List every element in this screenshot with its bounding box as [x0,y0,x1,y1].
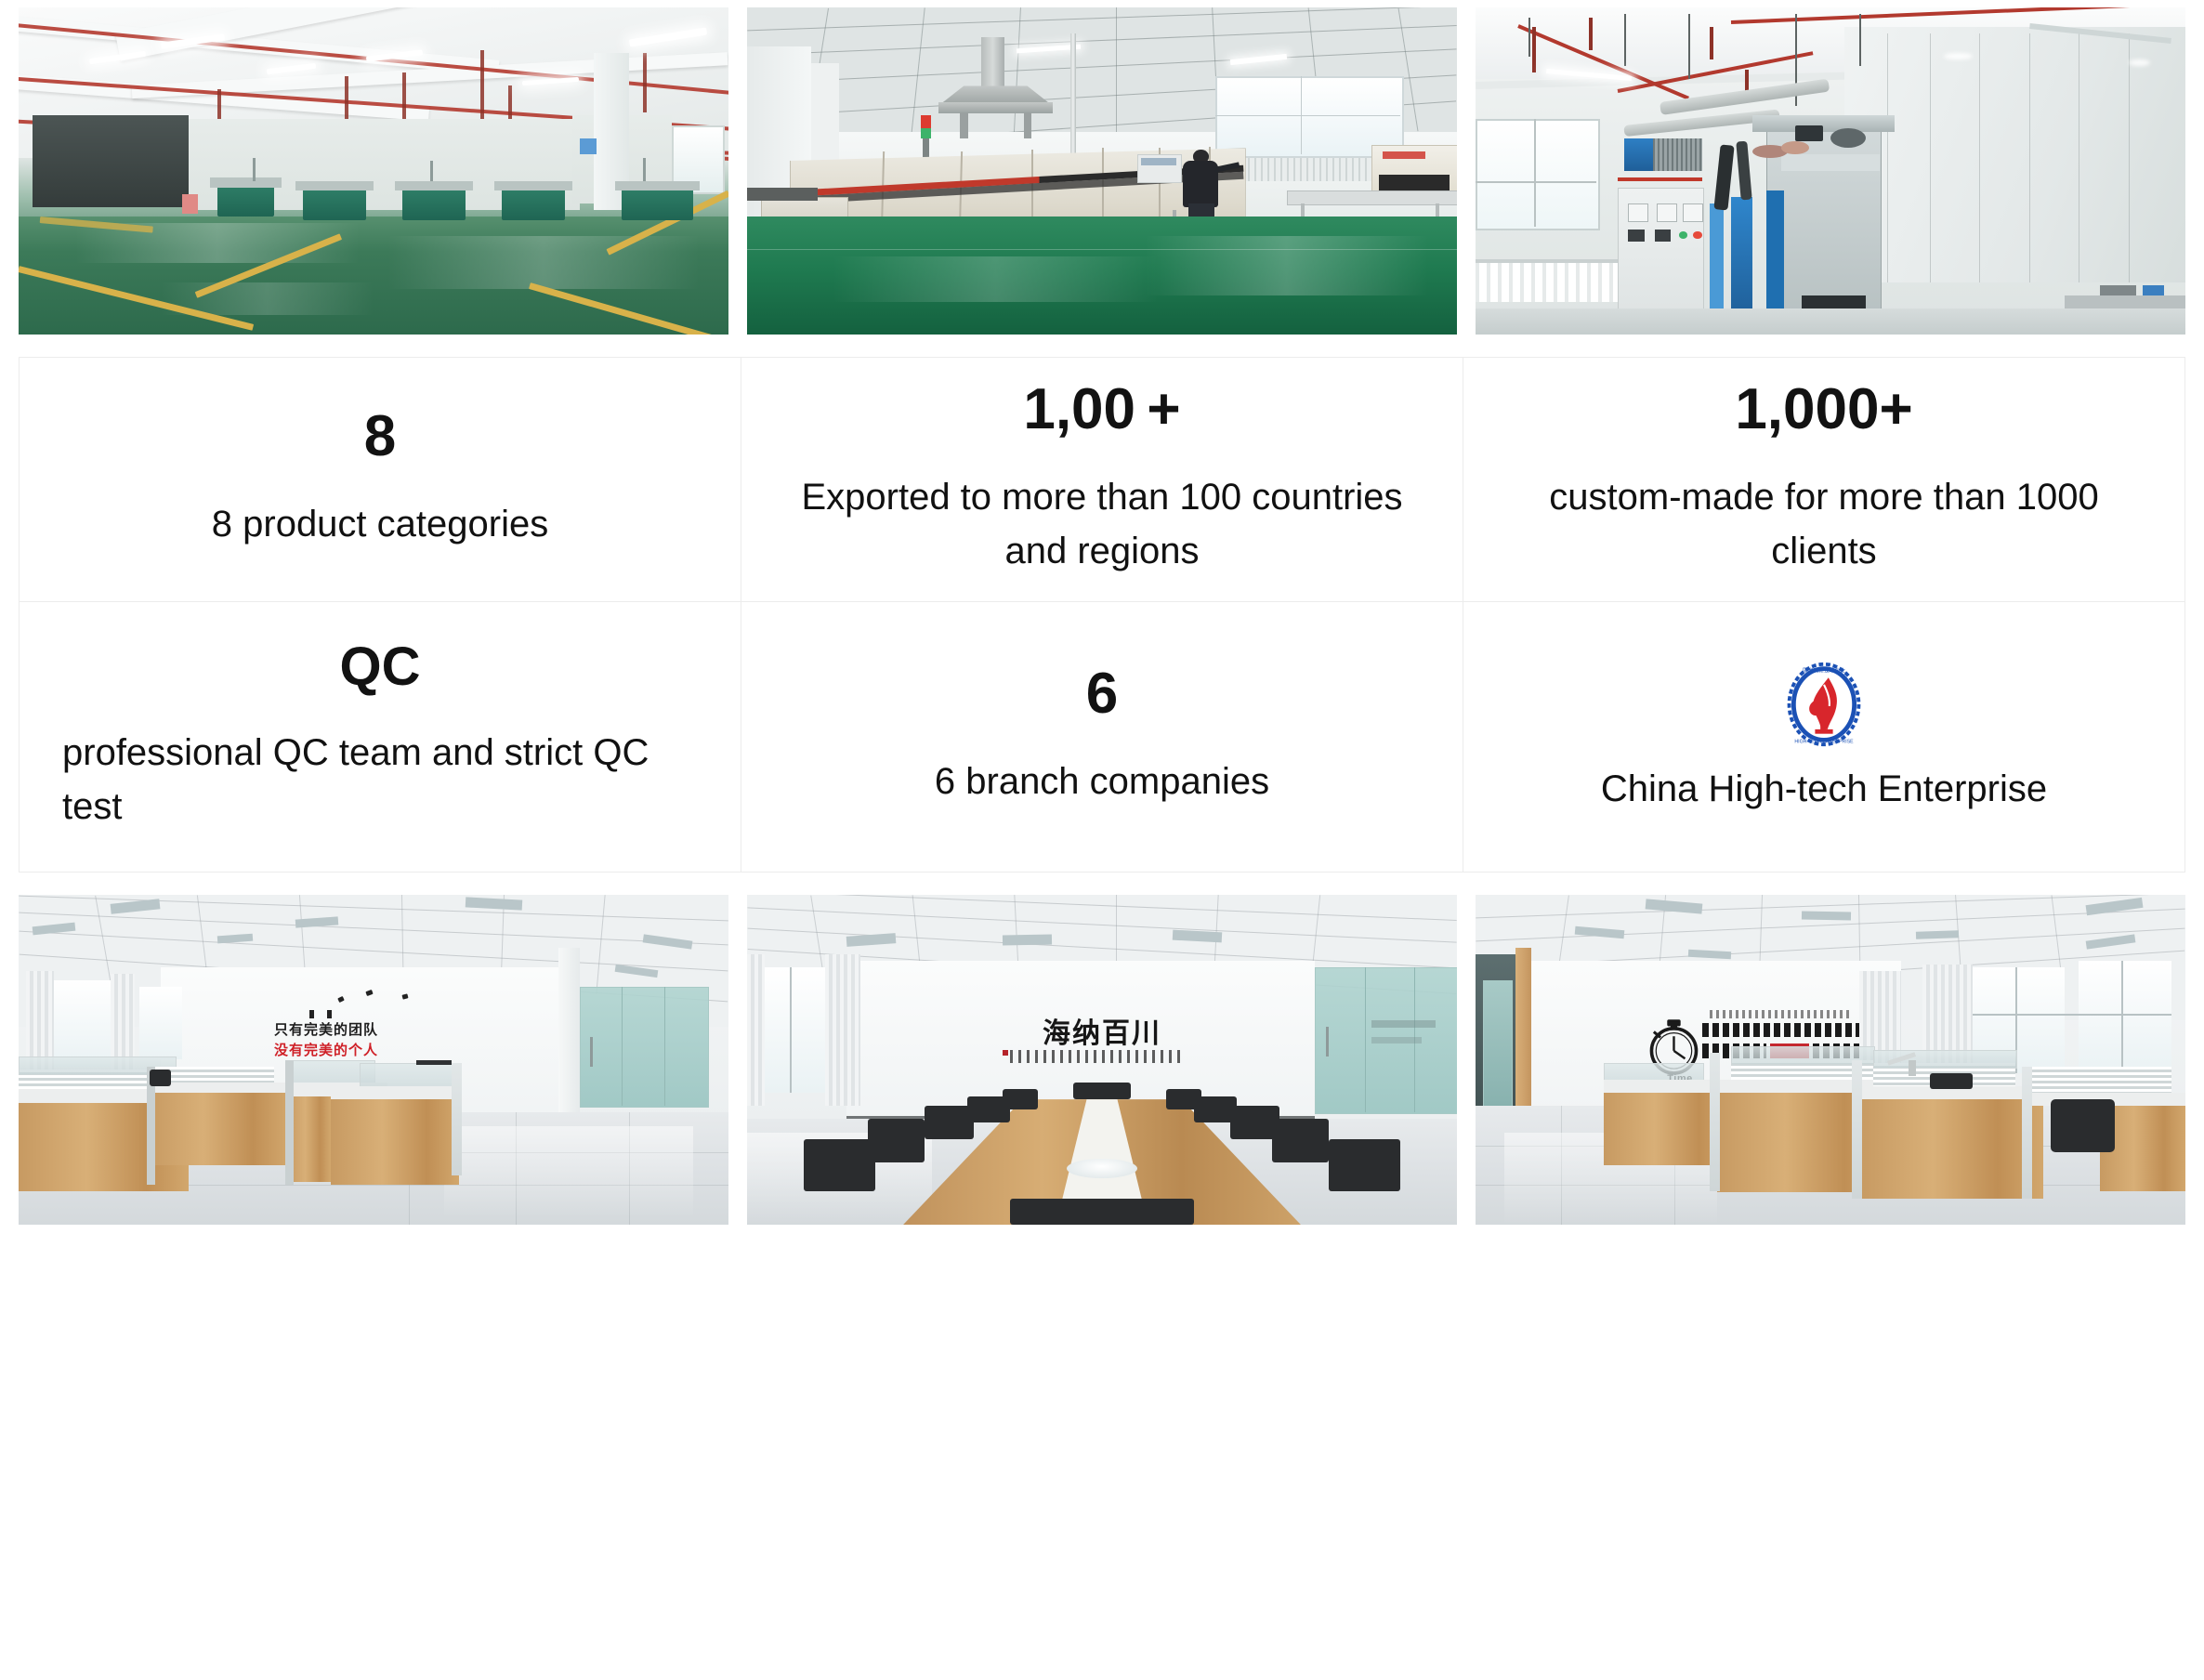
company-profile-infographic: 8 8 product categories 1,00 + Exported t… [0,0,2204,1680]
stat-label: custom-made for more than 1000 clients [1506,470,2142,578]
office-wall-slogan-line1: 只有完美的团队 [274,1022,378,1038]
stat-export-countries: 1,00 + Exported to more than 100 countri… [741,358,1463,602]
stat-number: 1,000+ [1506,381,2142,439]
stat-number: 1,00 + [784,381,1420,439]
stat-number: 6 [784,665,1420,723]
stat-number: QC [62,640,698,694]
stat-number: 8 [62,408,698,466]
office-workstations-photo: Time [1476,895,2185,1225]
production-line-photo [747,7,1457,335]
stat-custom-clients: 1,000+ custom-made for more than 1000 cl… [1463,358,2185,602]
stat-label: 6 branch companies [784,755,1420,808]
top-photo-row [0,0,2204,335]
meeting-room-calligraphy: 海纳百川 [1043,1010,1161,1051]
stat-label: professional QC team and strict QC test [62,726,698,833]
company-stats-table: 8 8 product categories 1,00 + Exported t… [19,357,2185,873]
stats-row-2: QC professional QC team and strict QC te… [20,602,2185,873]
stats-row-1: 8 8 product categories 1,00 + Exported t… [20,358,2185,602]
factory-workshop-photo [19,7,728,335]
stat-high-tech-enterprise: 国家高新技术企业 HIGH-TECH ENTERPRISE China High… [1463,602,2185,873]
stat-label: Exported to more than 100 countries and … [784,470,1420,578]
stats-table-wrapper: 8 8 product categories 1,00 + Exported t… [0,357,2204,873]
office-wall-slogan-line2: 没有完美的个人 [274,1043,378,1058]
bottom-photo-row: 只有完美的团队 没有完美的个人 [0,895,2204,1225]
stat-label: China High-tech Enterprise [1601,764,2047,814]
stat-product-categories: 8 8 product categories [20,358,741,602]
svg-text:国家高新技术企业: 国家高新技术企业 [1803,666,1845,674]
open-office-photo: 只有完美的团队 没有完美的个人 [19,895,728,1225]
office-wall-slogan: 只有完美的团队 没有完美的个人 [274,1020,516,1062]
stat-label: 8 product categories [62,497,698,551]
svg-text:HIGH-TECH ENTERPRISE: HIGH-TECH ENTERPRISE [1794,739,1854,744]
machinery-photo [1476,7,2185,335]
stat-branch-companies: 6 6 branch companies [741,602,1463,873]
stat-qc-team: QC professional QC team and strict QC te… [20,602,741,873]
meeting-room-photo: 海纳百川 [747,895,1457,1225]
china-high-tech-enterprise-logo: 国家高新技术企业 HIGH-TECH ENTERPRISE [1779,660,1869,749]
